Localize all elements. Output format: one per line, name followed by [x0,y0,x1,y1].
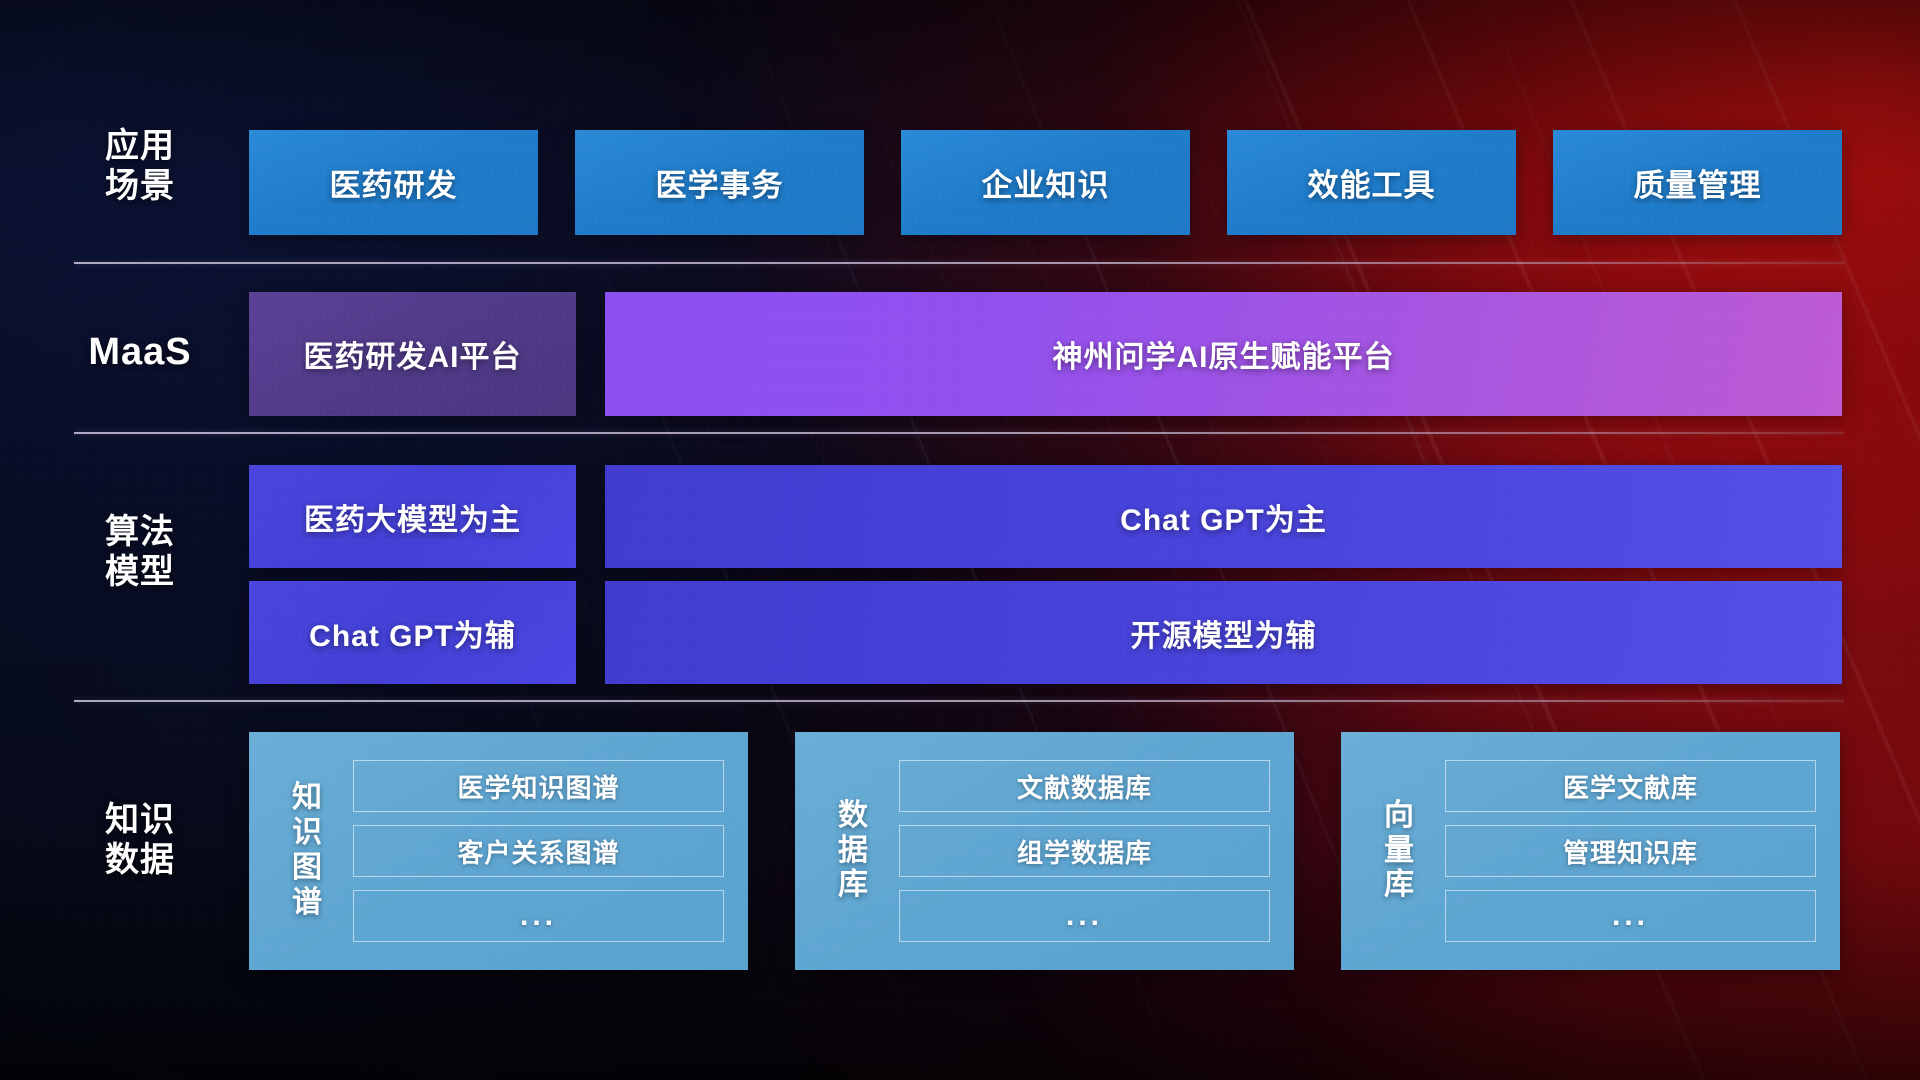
algorithm-box-opensource-secondary[interactable]: 开源模型为辅 [605,581,1842,684]
knowledge-panel-vector[interactable]: 向 量 库 医学文献库 管理知识库 ... [1341,732,1840,970]
diagram-content: 应用 场景 医药研发 医学事务 企业知识 效能工具 质量管理 MaaS 医药研发… [0,0,1920,1080]
divider-maas-algorithm [74,432,1844,434]
slide-canvas: 应用 场景 医药研发 医学事务 企业知识 效能工具 质量管理 MaaS 医药研发… [0,0,1920,1080]
knowledge-item[interactable]: 管理知识库 [1445,825,1816,877]
knowledge-item-more[interactable]: ... [899,890,1270,942]
divider-algorithm-knowledge [74,700,1844,702]
algorithm-box-medical-primary[interactable]: 医药大模型为主 [249,465,576,568]
knowledge-panel-graph-items: 医学知识图谱 客户关系图谱 ... [353,760,724,942]
knowledge-item[interactable]: 客户关系图谱 [353,825,724,877]
knowledge-panel-vector-items: 医学文献库 管理知识库 ... [1445,760,1816,942]
knowledge-panel-graph[interactable]: 知 识 图 谱 医学知识图谱 客户关系图谱 ... [249,732,748,970]
divider-application-maas [74,262,1844,264]
knowledge-item[interactable]: 医学知识图谱 [353,760,724,812]
knowledge-panel-graph-title: 知 识 图 谱 [271,781,343,920]
app-scenario-box-2[interactable]: 医学事务 [575,130,864,235]
algorithm-box-chatgpt-secondary[interactable]: Chat GPT为辅 [249,581,576,684]
knowledge-item[interactable]: 组学数据库 [899,825,1270,877]
app-scenario-box-1[interactable]: 医药研发 [249,130,538,235]
algorithm-box-chatgpt-primary[interactable]: Chat GPT为主 [605,465,1842,568]
row-label-algorithm: 算法 模型 [60,512,220,592]
knowledge-item[interactable]: 文献数据库 [899,760,1270,812]
maas-platform-box-shenzhou[interactable]: 神州问学AI原生赋能平台 [605,292,1842,416]
knowledge-panel-database[interactable]: 数 据 库 文献数据库 组学数据库 ... [795,732,1294,970]
app-scenario-box-4[interactable]: 效能工具 [1227,130,1516,235]
row-label-application: 应用 场景 [60,126,220,206]
knowledge-panel-database-title: 数 据 库 [817,799,889,903]
knowledge-item[interactable]: 医学文献库 [1445,760,1816,812]
row-label-maas: MaaS [60,330,220,375]
maas-platform-box-medical[interactable]: 医药研发AI平台 [249,292,576,416]
app-scenario-box-3[interactable]: 企业知识 [901,130,1190,235]
knowledge-item-more[interactable]: ... [353,890,724,942]
knowledge-panel-vector-title: 向 量 库 [1363,799,1435,903]
knowledge-panel-database-items: 文献数据库 组学数据库 ... [899,760,1270,942]
knowledge-item-more[interactable]: ... [1445,890,1816,942]
app-scenario-box-5[interactable]: 质量管理 [1553,130,1842,235]
row-label-knowledge: 知识 数据 [60,800,220,880]
